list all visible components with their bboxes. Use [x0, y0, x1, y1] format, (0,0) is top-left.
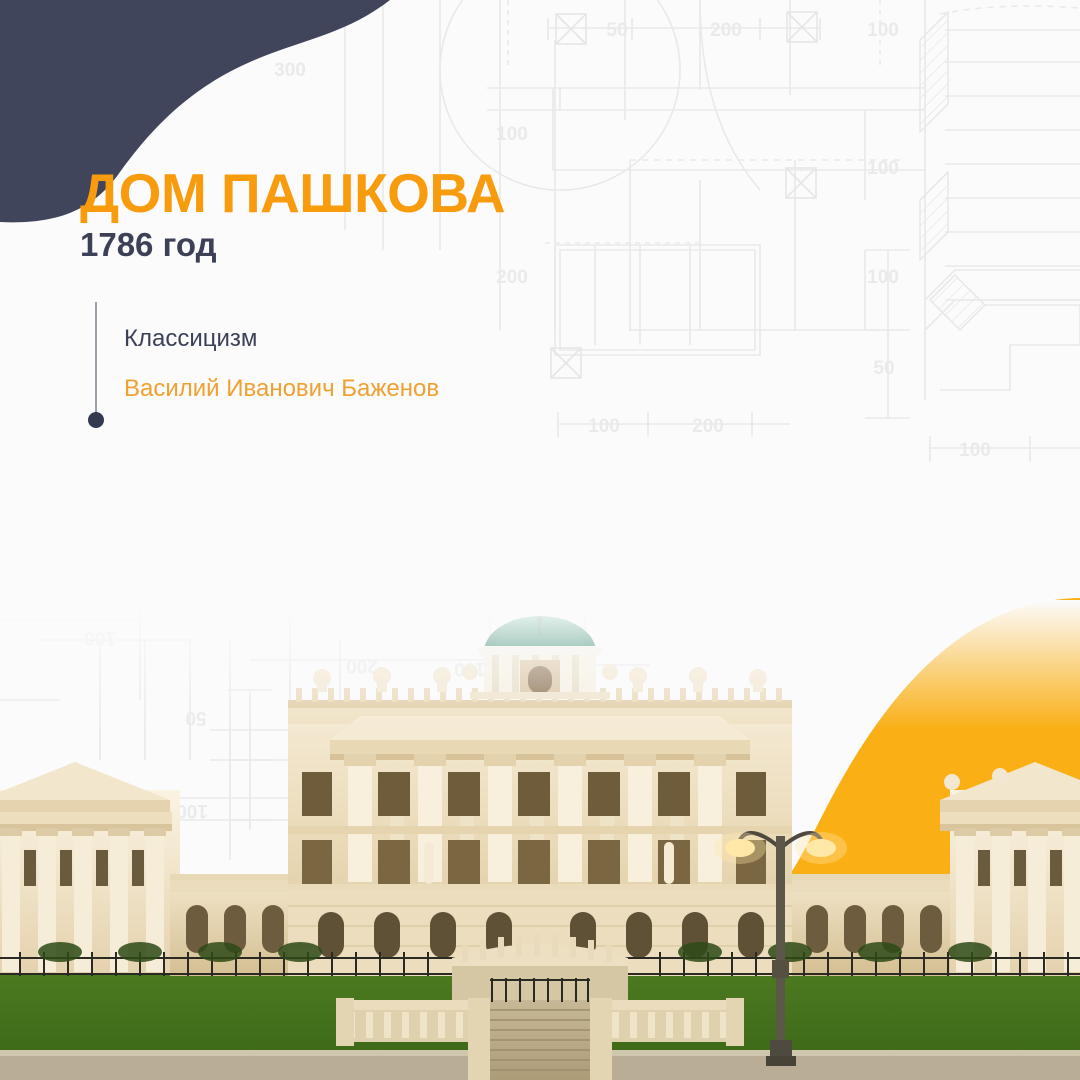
architectural-style-label: Классицизм — [124, 327, 257, 351]
architect-name-label: Василий Иванович Баженов — [124, 377, 439, 401]
timeline-marker-line — [95, 302, 97, 414]
poster-text-block: ДОМ ПАШКОВА 1786 год Классицизм Василий … — [0, 0, 1080, 1080]
poster-canvas: 300 50 200 100 100 100 200 100 50 100 20… — [0, 0, 1080, 1080]
year-subtitle: 1786 год — [80, 228, 217, 261]
page-title: ДОМ ПАШКОВА — [80, 166, 505, 221]
timeline-marker-dot — [88, 412, 104, 428]
